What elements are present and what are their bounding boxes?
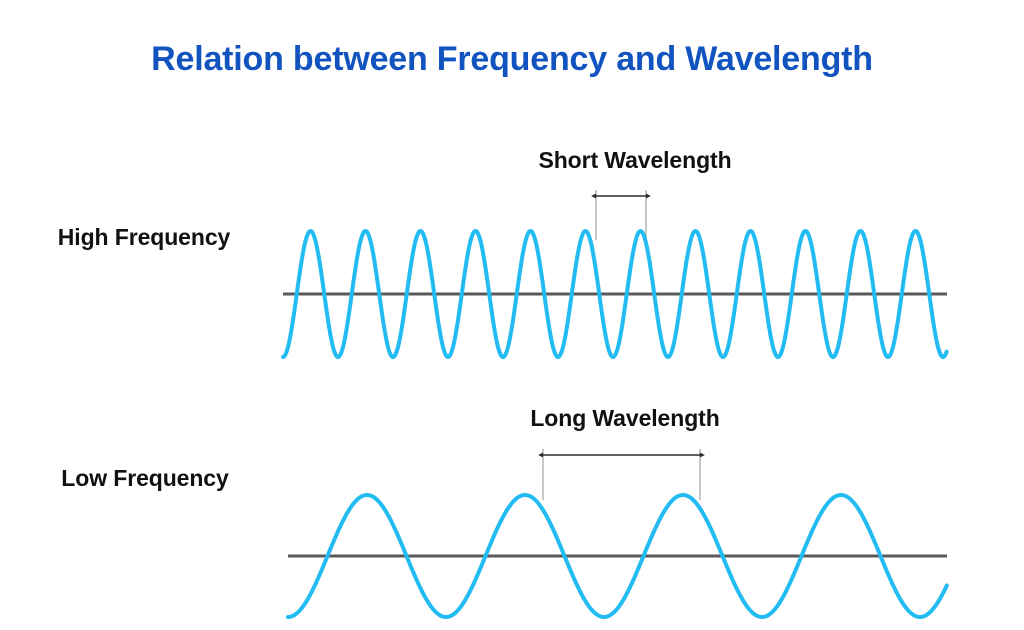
long-wavelength-measure-group	[543, 449, 700, 500]
wave-diagram-canvas	[0, 0, 1024, 630]
